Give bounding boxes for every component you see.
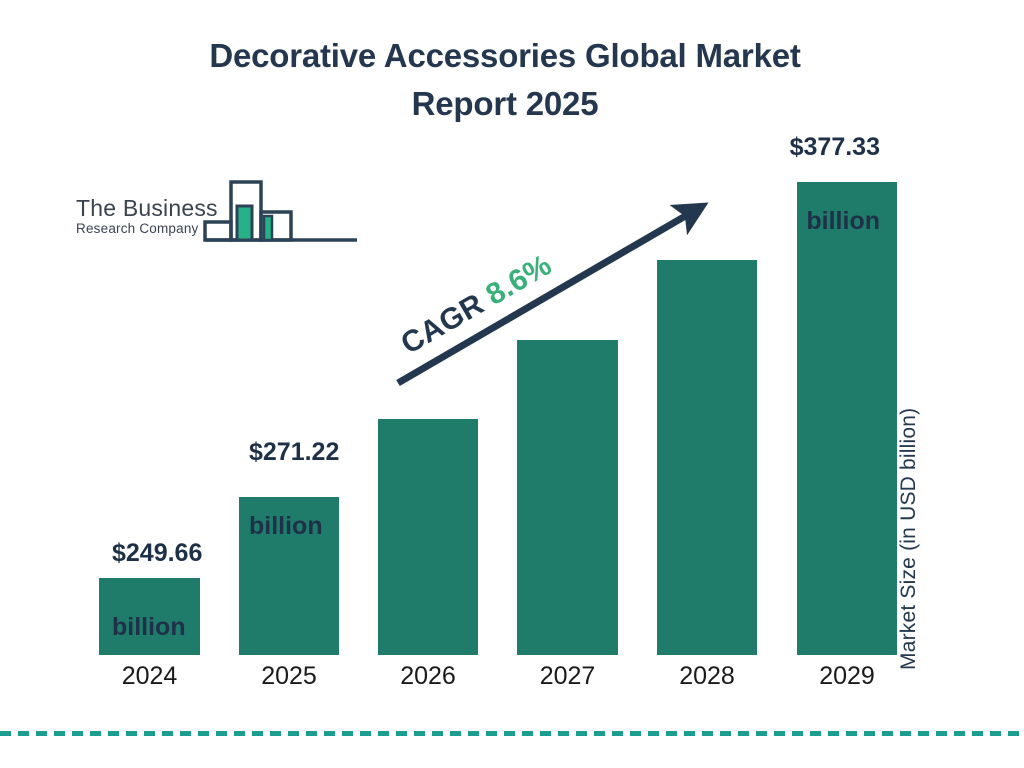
x-tick-label-2025: 2025 bbox=[239, 662, 339, 691]
bar-value-label-2029: $377.33 billion bbox=[720, 92, 880, 277]
x-tick-label-2027: 2027 bbox=[517, 662, 618, 691]
chart-canvas: Decorative Accessories Global Market Rep… bbox=[0, 0, 1024, 768]
bar-value-label-2029-unit: billion bbox=[720, 203, 880, 240]
x-tick-label-2026: 2026 bbox=[378, 662, 478, 691]
x-tick-label-2029: 2029 bbox=[797, 662, 897, 691]
x-tick-label-2024: 2024 bbox=[99, 662, 200, 691]
bar-2026[interactable] bbox=[378, 419, 478, 655]
y-axis-title: Market Size (in USD billion) bbox=[897, 330, 921, 670]
bar-2028[interactable] bbox=[657, 260, 757, 655]
bar-value-label-2029-amount: $377.33 bbox=[720, 129, 880, 166]
bottom-divider bbox=[0, 731, 1024, 736]
x-tick-label-2028: 2028 bbox=[657, 662, 757, 691]
plot-area: $249.66 billion 2024 $271.22 billion 202… bbox=[0, 0, 1024, 768]
bar-2027[interactable] bbox=[517, 340, 618, 655]
